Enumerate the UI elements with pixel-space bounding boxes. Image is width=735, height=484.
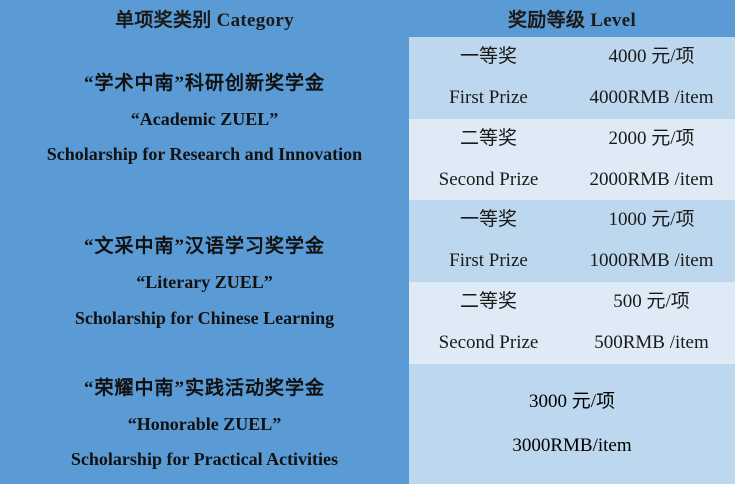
prize-level-cell: 二等奖 Second Prize <box>409 282 568 364</box>
prize-level-cell: 二等奖 Second Prize <box>409 119 568 201</box>
category-name-en-title: “Academic ZUEL” <box>0 102 409 137</box>
category-name-cn: “学术中南”科研创新奖学金 <box>0 65 409 102</box>
prize-amount-en: 1000RMB /item <box>568 241 735 282</box>
category-name-cn: “文采中南”汉语学习奖学金 <box>0 228 409 265</box>
prize-level-cn: 二等奖 <box>409 119 568 160</box>
category-name-en-subtitle: Scholarship for Practical Activities <box>0 442 409 477</box>
prize-amount-cell: 500 元/项 500RMB /item <box>568 282 735 364</box>
prize-level-cell: 一等奖 First Prize <box>409 37 568 119</box>
prize-level-cn: 一等奖 <box>409 200 568 241</box>
table-row: “文采中南”汉语学习奖学金 “Literary ZUEL” Scholarshi… <box>0 200 735 282</box>
category-cell-honorable: “荣耀中南”实践活动奖学金 “Honorable ZUEL” Scholarsh… <box>0 364 409 484</box>
prize-amount-en: 2000RMB /item <box>568 160 735 201</box>
prize-level-cn: 二等奖 <box>409 282 568 323</box>
award-scholarship-table: 单项奖类别 Category 奖励等级 Level “学术中南”科研创新奖学金 … <box>0 0 735 484</box>
category-cell-literary: “文采中南”汉语学习奖学金 “Literary ZUEL” Scholarshi… <box>0 200 409 363</box>
prize-level-en: Second Prize <box>409 323 568 364</box>
prize-level-en: First Prize <box>409 241 568 282</box>
prize-amount-cn: 1000 元/项 <box>568 200 735 241</box>
prize-amount-en: 500RMB /item <box>568 323 735 364</box>
column-header-category: 单项奖类别 Category <box>0 0 409 37</box>
prize-amount-cell-flat: 3000 元/项 3000RMB/item <box>409 364 735 484</box>
prize-level-cn: 一等奖 <box>409 37 568 78</box>
table-row: “学术中南”科研创新奖学金 “Academic ZUEL” Scholarshi… <box>0 37 735 119</box>
prize-level-en: Second Prize <box>409 160 568 201</box>
table-row: “荣耀中南”实践活动奖学金 “Honorable ZUEL” Scholarsh… <box>0 364 735 484</box>
prize-level-cell: 一等奖 First Prize <box>409 200 568 282</box>
category-name-en-subtitle: Scholarship for Research and Innovation <box>0 137 409 172</box>
category-name-en-title: “Literary ZUEL” <box>0 265 409 300</box>
category-name-en-title: “Honorable ZUEL” <box>0 407 409 442</box>
prize-level-en: First Prize <box>409 78 568 119</box>
prize-amount-cn: 3000 元/项 <box>409 380 735 424</box>
category-name-en-subtitle: Scholarship for Chinese Learning <box>0 301 409 336</box>
prize-amount-cell: 4000 元/项 4000RMB /item <box>568 37 735 119</box>
column-header-level: 奖励等级 Level <box>409 0 735 37</box>
prize-amount-en: 3000RMB/item <box>409 424 735 468</box>
category-name-cn: “荣耀中南”实践活动奖学金 <box>0 370 409 407</box>
category-cell-academic: “学术中南”科研创新奖学金 “Academic ZUEL” Scholarshi… <box>0 37 409 200</box>
table-header-row: 单项奖类别 Category 奖励等级 Level <box>0 0 735 37</box>
prize-amount-cell: 1000 元/项 1000RMB /item <box>568 200 735 282</box>
prize-amount-en: 4000RMB /item <box>568 78 735 119</box>
prize-amount-cn: 500 元/项 <box>568 282 735 323</box>
prize-amount-cn: 2000 元/项 <box>568 119 735 160</box>
prize-amount-cell: 2000 元/项 2000RMB /item <box>568 119 735 201</box>
prize-amount-cn: 4000 元/项 <box>568 37 735 78</box>
